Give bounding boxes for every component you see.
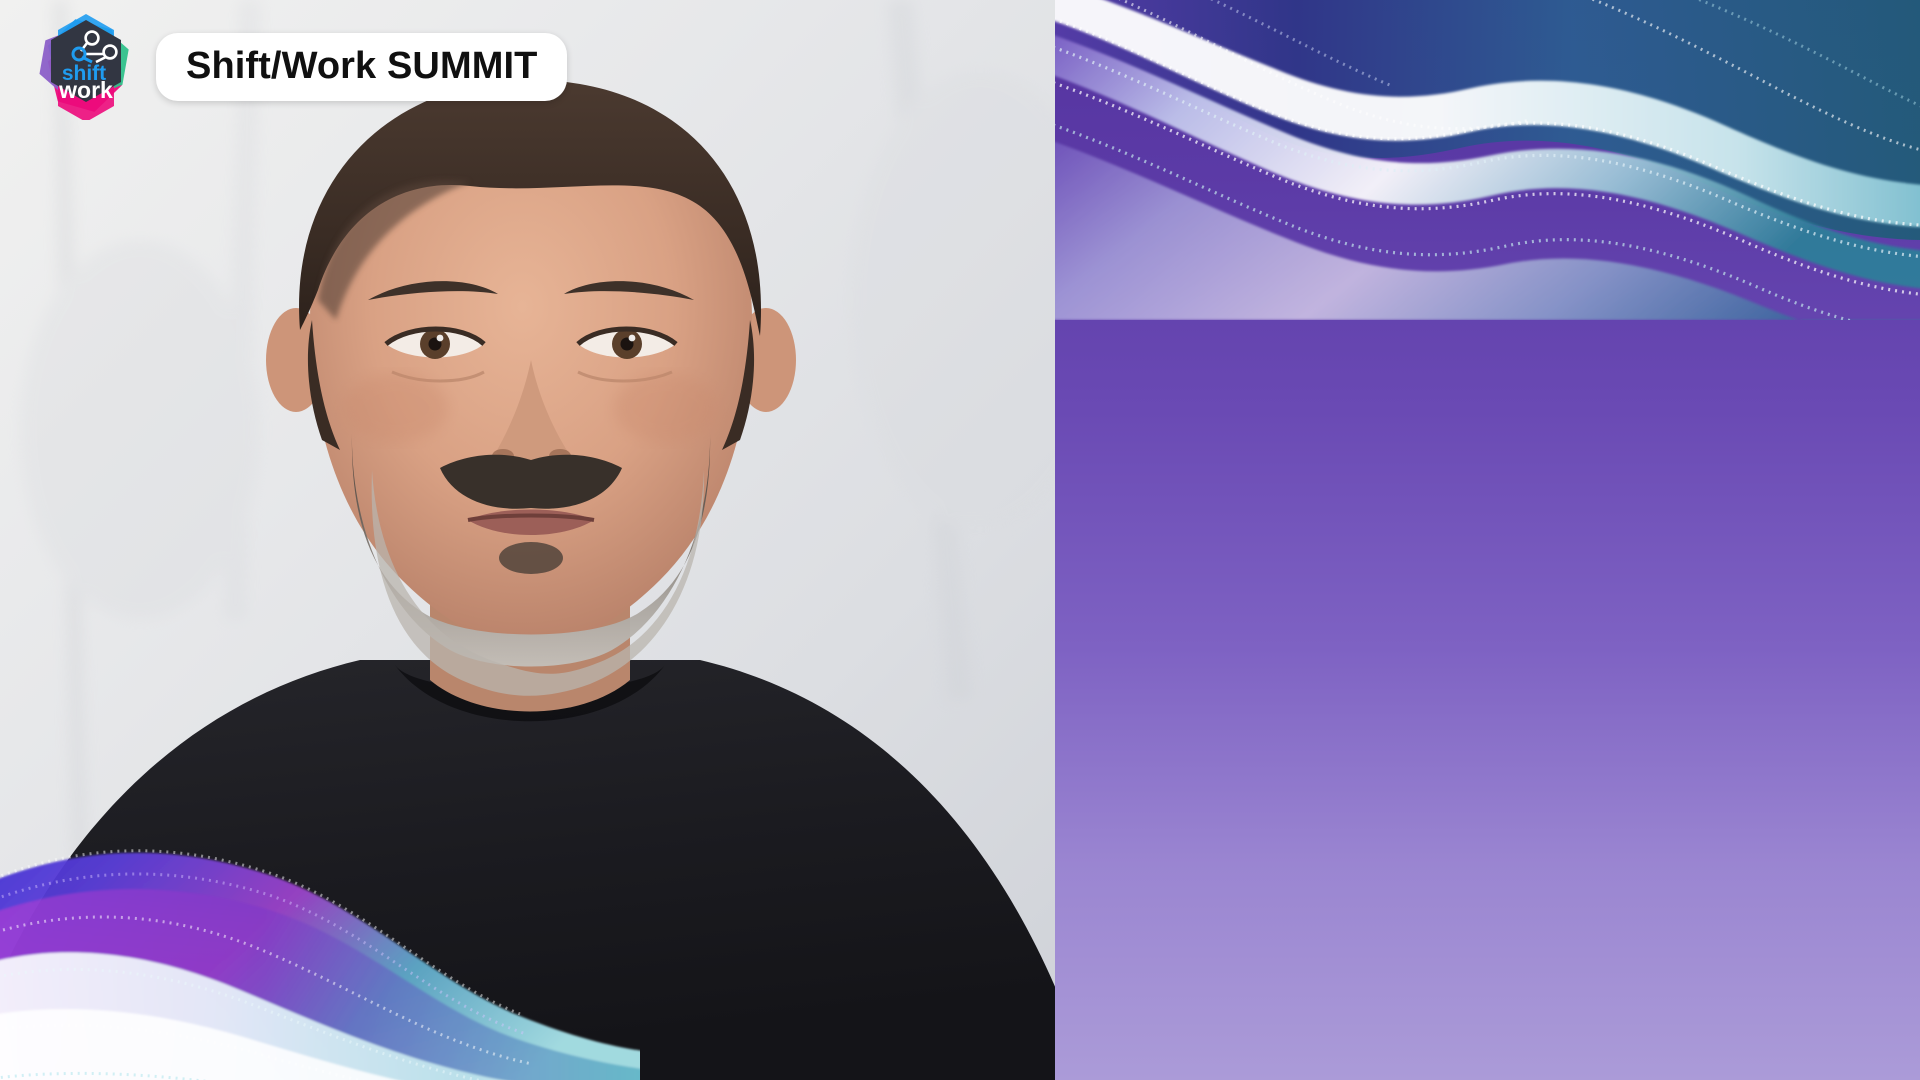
shift-work-logo-svg: shift work [36,14,134,120]
speaker-photo-panel [0,0,1055,1080]
wave-graphic-top-right [1055,0,1920,320]
session-card: Key Challenges For the Adoption & Change… [0,0,1920,1080]
logo-wordmark-work: work [58,77,113,103]
speaker-portrait-image [0,0,1055,1080]
content-panel: Key Challenges For the Adoption & Change… [1055,0,1920,1080]
summit-badge[interactable]: Shift/Work SUMMIT [156,33,567,101]
brand-lockup: shift work Shift/Work SUMMIT [36,14,567,120]
shift-work-logo-icon[interactable]: shift work [36,14,134,120]
